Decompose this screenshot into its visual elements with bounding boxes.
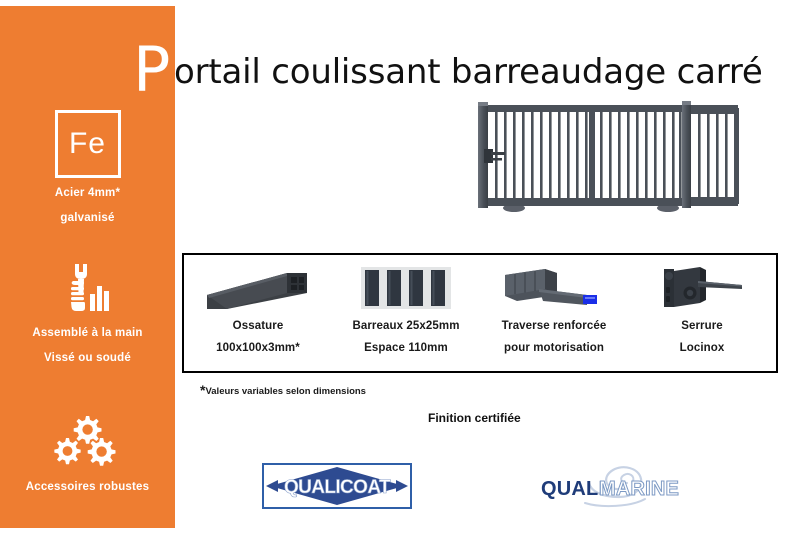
gears-icon (0, 410, 175, 472)
sidebar-feature-assembly-line2: Vissé ou soudé (0, 352, 175, 365)
motor-crossbar-icon (499, 263, 609, 313)
svg-text:QUALICOAT: QUALICOAT (284, 477, 391, 498)
qualimarine-logo: QUALI MARINE (527, 461, 695, 511)
sidebar-feature-assembly-line1: Assemblé à la main (0, 327, 175, 340)
sidebar-feature-accessories: Accessoires robustes (0, 410, 175, 494)
svg-text:QUALI: QUALI (541, 478, 604, 500)
sidebar-feature-steel-line2: galvanisé (0, 212, 175, 225)
spec-lock-line2: Locinox (680, 341, 725, 355)
title-dropcap: P (133, 48, 170, 92)
spec-frame-line2: 100x100x3mm* (216, 341, 300, 355)
spec-lock-line1: Serrure (681, 319, 723, 333)
lock-icon (656, 263, 748, 313)
sidebar-feature-steel-line1: Acier 4mm* (0, 187, 175, 200)
sidebar-feature-accessories-line1: Accessoires robustes (0, 481, 175, 494)
page-title: P ortail coulissant barreaudage carré (0, 26, 800, 86)
footnote: *Valeurs variables selon dimensions (200, 382, 366, 398)
sidebar-feature-assembly: Assemblé à la main Vissé ou soudé (0, 256, 175, 364)
spec-column-frame: Ossature 100x100x3mm* (184, 255, 332, 371)
spec-bars-line1: Barreaux 25x25mm (352, 319, 459, 333)
sliding-gate-illustration (466, 92, 776, 220)
spec-column-crossbar: Traverse renforcée pour motorisation (480, 255, 628, 371)
certification-heading: Finition certifiée (428, 411, 521, 425)
spec-frame-line1: Ossature (233, 319, 284, 333)
bars-icon (361, 263, 451, 313)
spec-crossbar-line2: pour motorisation (504, 341, 604, 355)
spec-panel: Ossature 100x100x3mm* (182, 253, 778, 373)
spec-crossbar-line1: Traverse renforcée (502, 319, 607, 333)
spec-column-lock: Serrure Locinox (628, 255, 776, 371)
fe-element-icon: Fe (55, 110, 121, 178)
footnote-text: Valeurs variables selon dimensions (205, 386, 366, 397)
frame-profile-icon (203, 263, 313, 313)
spec-bars-line2: Espace 110mm (364, 341, 448, 355)
spec-column-bars: Barreaux 25x25mm Espace 110mm (332, 255, 480, 371)
qualicoat-logo: QUALICOAT (262, 463, 412, 509)
title-text: ortail coulissant barreaudage carré (174, 52, 763, 92)
fe-badge-label: Fe (69, 129, 106, 159)
wrench-hand-icon (0, 256, 175, 318)
sidebar-feature-steel: Fe Acier 4mm* galvanisé (0, 110, 175, 224)
svg-text:MARINE: MARINE (599, 478, 679, 500)
product-datasheet: Fe Acier 4mm* galvanisé (0, 0, 800, 534)
